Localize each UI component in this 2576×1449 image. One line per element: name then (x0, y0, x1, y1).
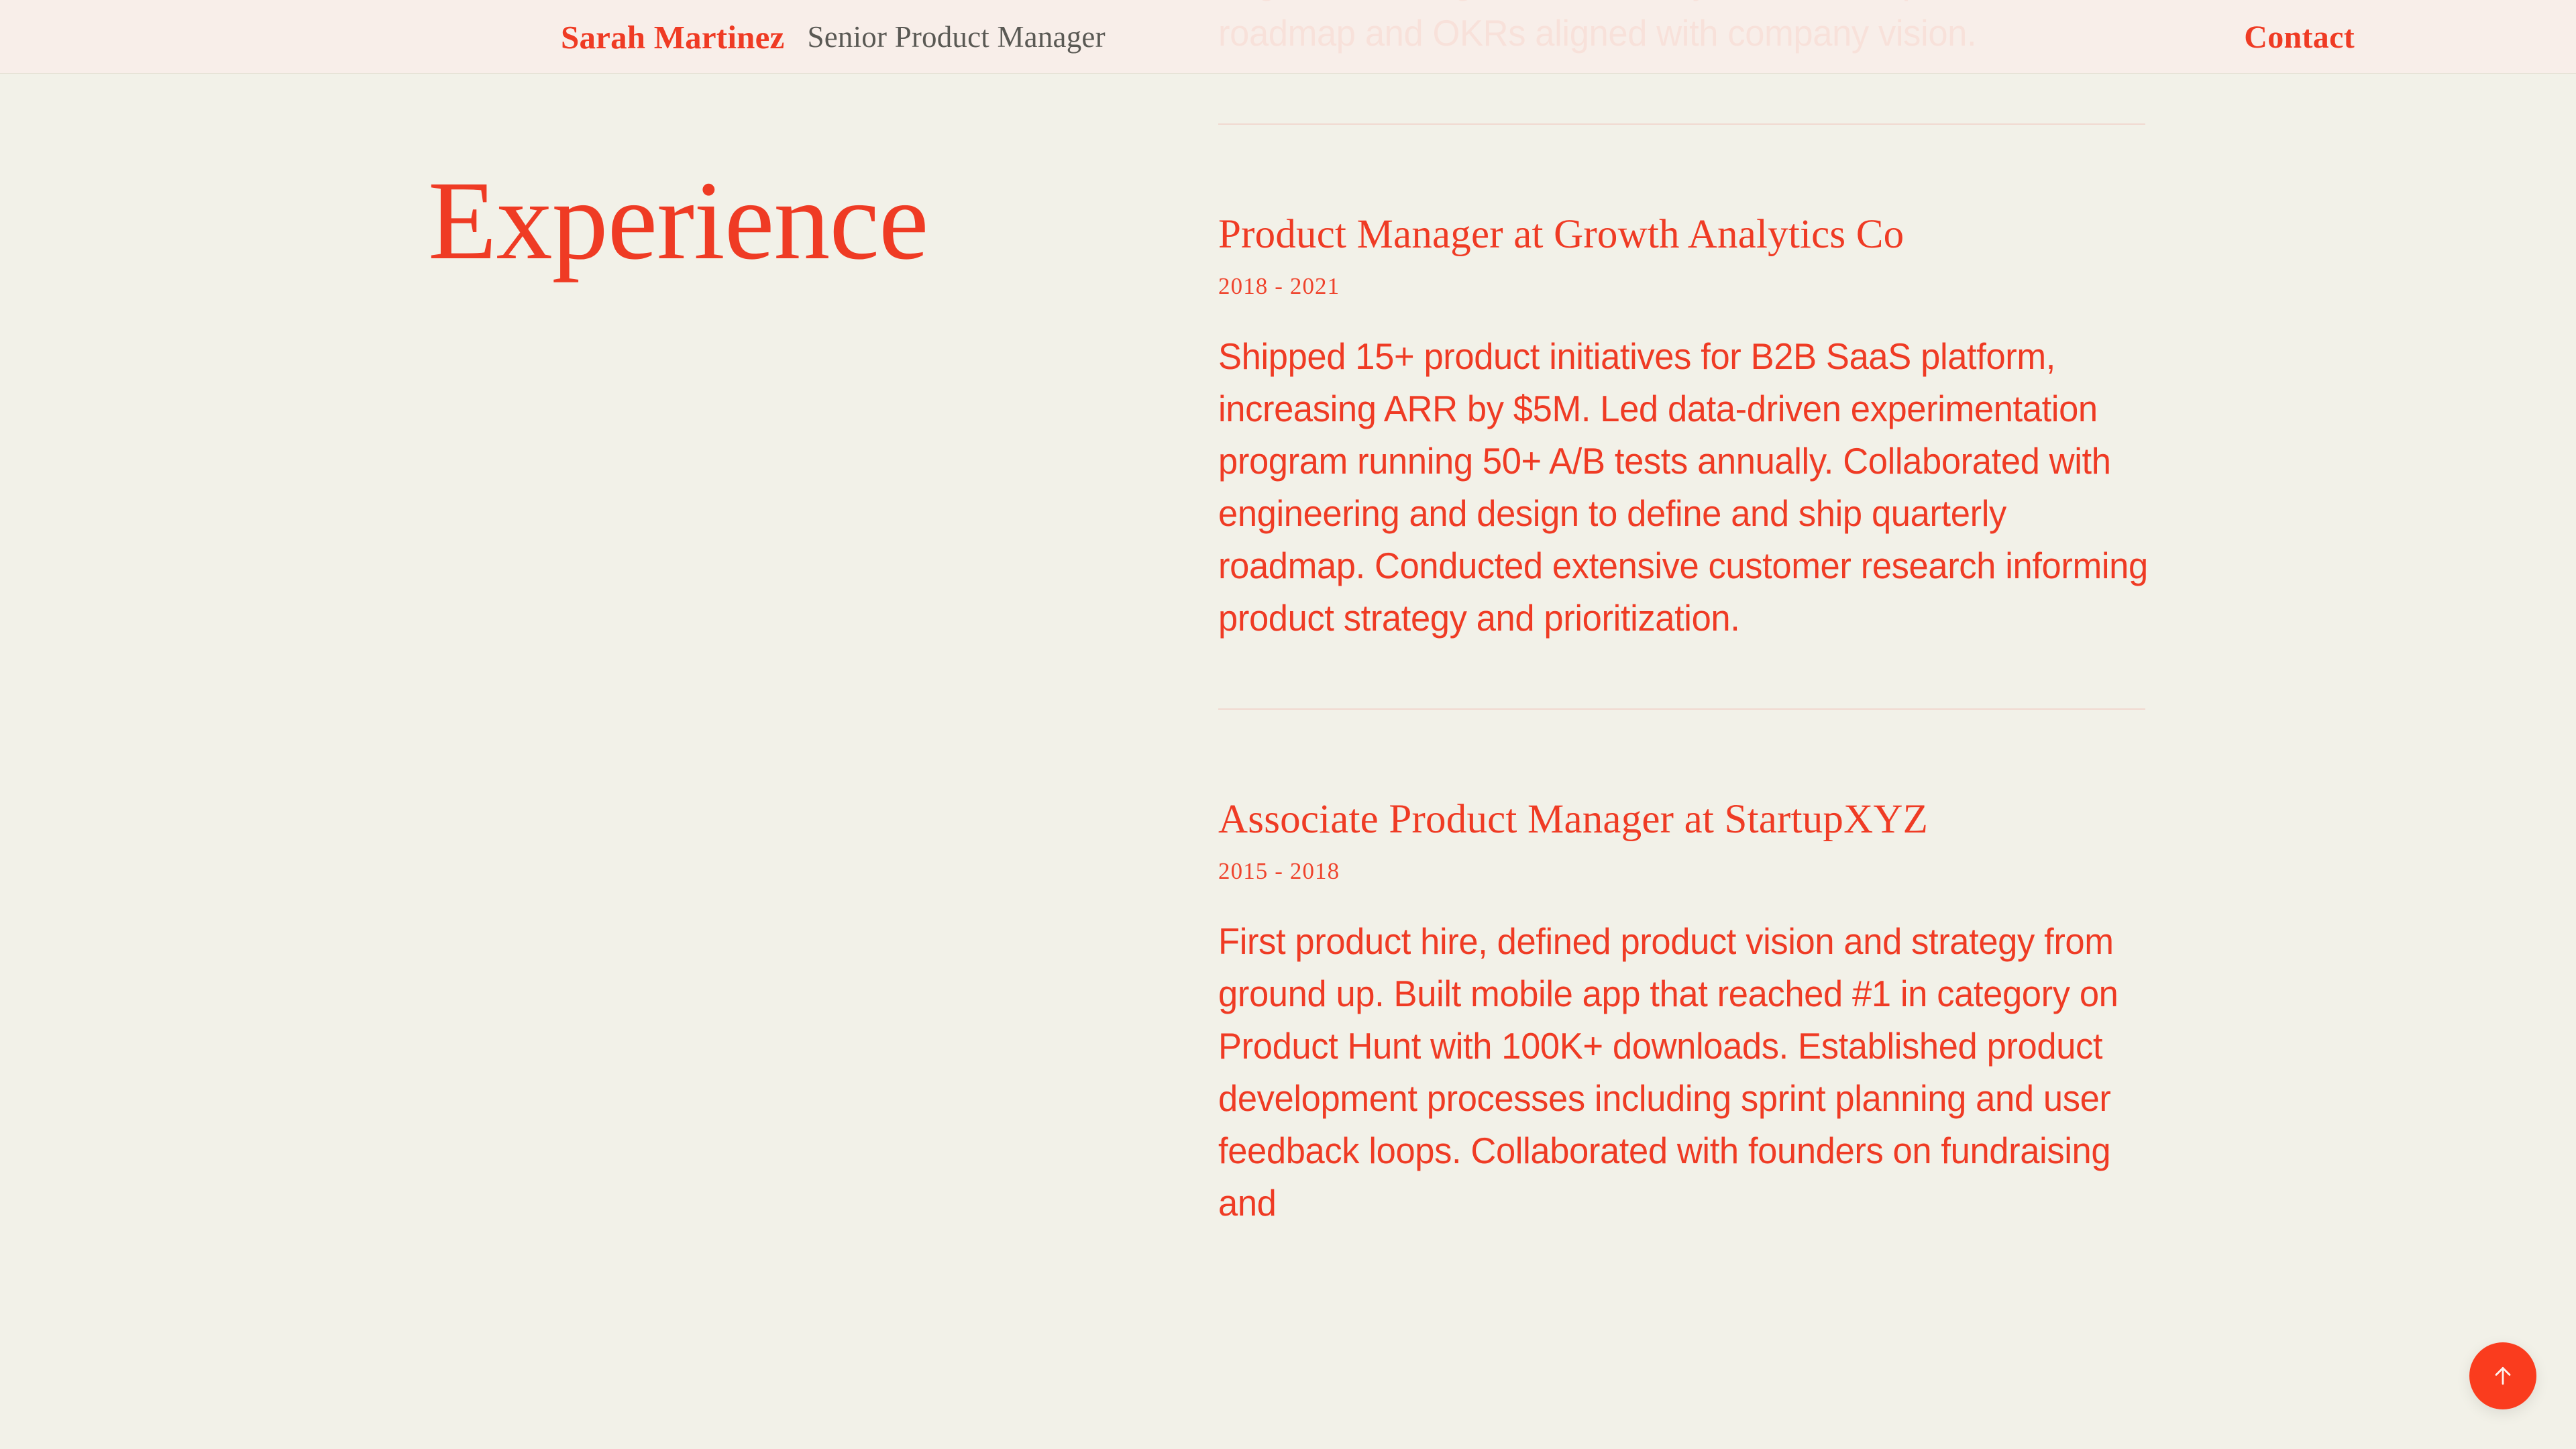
scroll-to-top-button[interactable] (2469, 1342, 2536, 1409)
arrow-up-icon (2489, 1362, 2516, 1389)
job-title: Associate Product Manager at StartupXYZ (1218, 798, 2149, 842)
job-entry: Product Manager at Growth Analytics Co 2… (1218, 213, 2149, 710)
job-entry: Associate Product Manager at StartupXYZ … (1218, 798, 2149, 1229)
job-dates: 2015 - 2018 (1218, 859, 2149, 883)
brand-name[interactable]: Sarah Martinez (561, 21, 784, 54)
job-dates: 2018 - 2021 (1218, 274, 2149, 298)
page-root: engineers, designers, and analysts. Defi… (0, 0, 2576, 1449)
job-divider (1218, 708, 2145, 710)
experience-content-column: engineers, designers, and analysts. Defi… (1218, 0, 2149, 1229)
brand-role: Senior Product Manager (807, 22, 1105, 52)
job-title: Product Manager at Growth Analytics Co (1218, 213, 2149, 257)
job-description: First product hire, defined product visi… (1218, 915, 2149, 1229)
job-description: Shipped 15+ product initiatives for B2B … (1218, 330, 2149, 644)
job-divider (1218, 123, 2145, 125)
site-header: Sarah Martinez Senior Product Manager Co… (0, 0, 2576, 74)
nav-link-contact[interactable]: Contact (2244, 0, 2355, 74)
page-title: Experience (428, 164, 928, 277)
brand[interactable]: Sarah Martinez Senior Product Manager (561, 0, 1106, 74)
